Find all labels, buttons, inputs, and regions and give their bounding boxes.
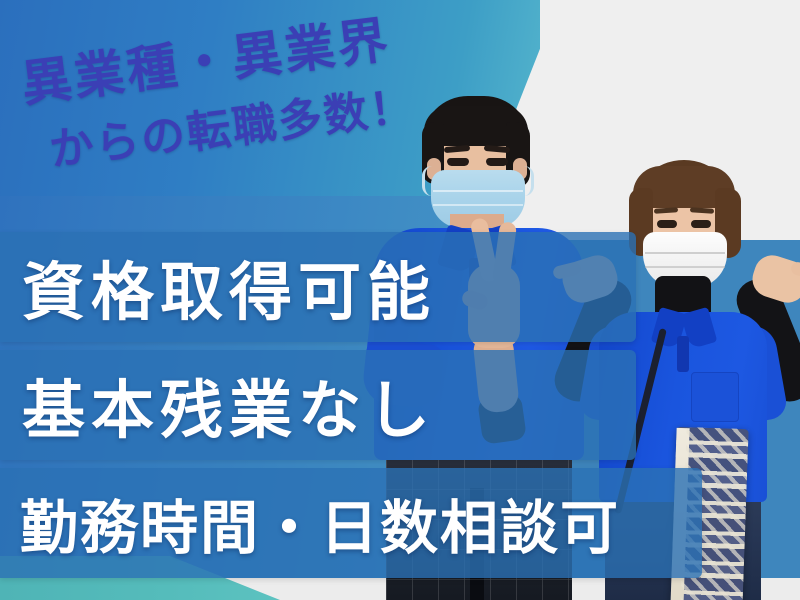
man-eye-left [447,158,469,166]
man-mask-fold-lower [433,204,523,206]
benefit-banner-qualification: 資格取得可能 [0,232,636,342]
woman-eye-right [691,220,711,228]
woman-chest-pocket [691,372,739,422]
woman-mask-fold-lower [645,266,725,268]
benefit-banner-flexible-hours-text: 勤務時間・日数相談可 [20,481,620,565]
woman-shirt-placket [677,336,689,372]
job-ad-poster: 異業種・異業界 からの転職多数！ 資格取得可能 基本残業なし 勤務時間・日数相談… [0,0,800,600]
benefit-banner-flexible-hours: 勤務時間・日数相談可 [0,468,702,578]
benefit-banner-qualification-text: 資格取得可能 [22,242,436,333]
benefit-banner-no-overtime-text: 基本残業なし [22,360,436,451]
man-mask-fold-upper [433,190,523,192]
woman-eye-left [657,220,677,228]
headline-handwritten: 異業種・異業界 からの転職多数！ [14,14,444,174]
benefit-banner-no-overtime: 基本残業なし [0,350,636,460]
man-eye-right [486,158,508,166]
woman-mask-fold-upper [645,252,725,254]
